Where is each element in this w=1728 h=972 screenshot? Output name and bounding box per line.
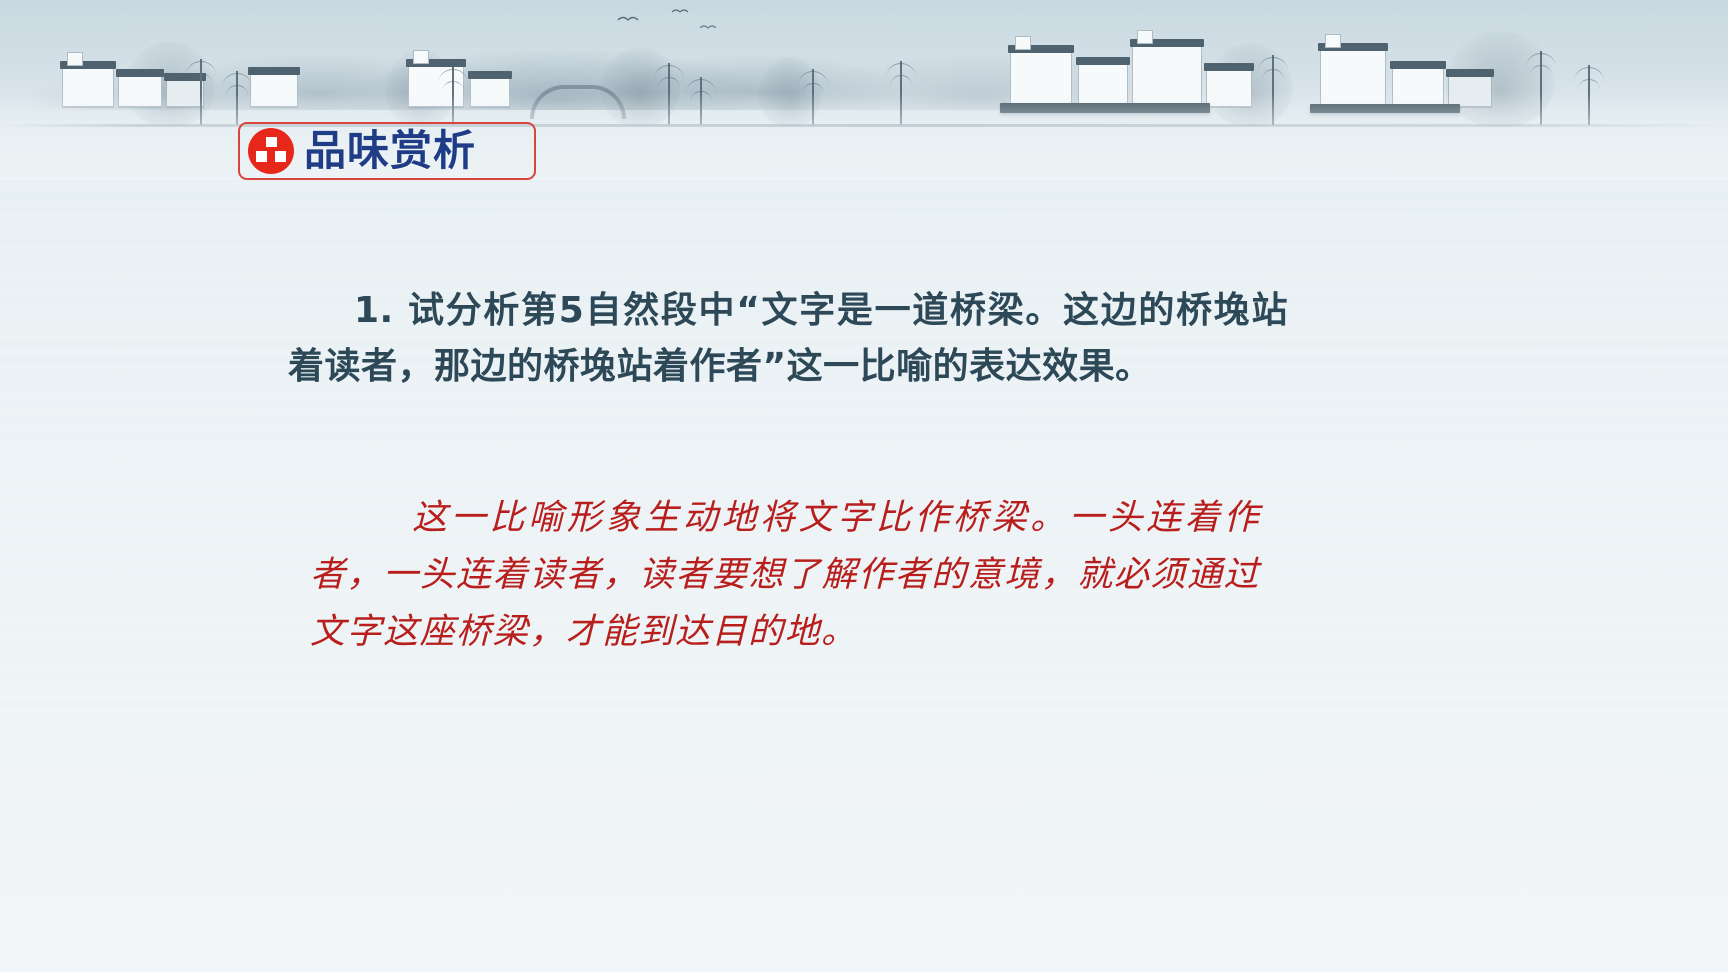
- four-square-dot-badge-icon: [248, 128, 294, 174]
- answer-text: 这一比喻形象生动地将文字比作桥梁。一头连着作者，一头连着读者，读者要想了解作者的…: [310, 490, 1260, 661]
- question-text: 1. 试分析第5自然段中“文字是一道桥梁。这边的桥堍站着读者，那边的桥堍站着作者…: [288, 283, 1288, 395]
- slide-canvas: 品味赏析 1. 试分析第5自然段中“文字是一道桥梁。这边的桥堍站着读者，那边的桥…: [0, 0, 1728, 972]
- answer-body-text: 这一比喻形象生动地将文字比作桥梁。一头连着作者，一头连着读者，读者要想了解作者的…: [310, 498, 1260, 652]
- section-title-label: 品味赏析: [304, 130, 476, 172]
- question-full-text: 1. 试分析第5自然段中“文字是一道桥梁。这边的桥堍站着读者，那边的桥堍站着作者…: [288, 290, 1288, 387]
- section-title-badge: 品味赏析: [238, 122, 536, 180]
